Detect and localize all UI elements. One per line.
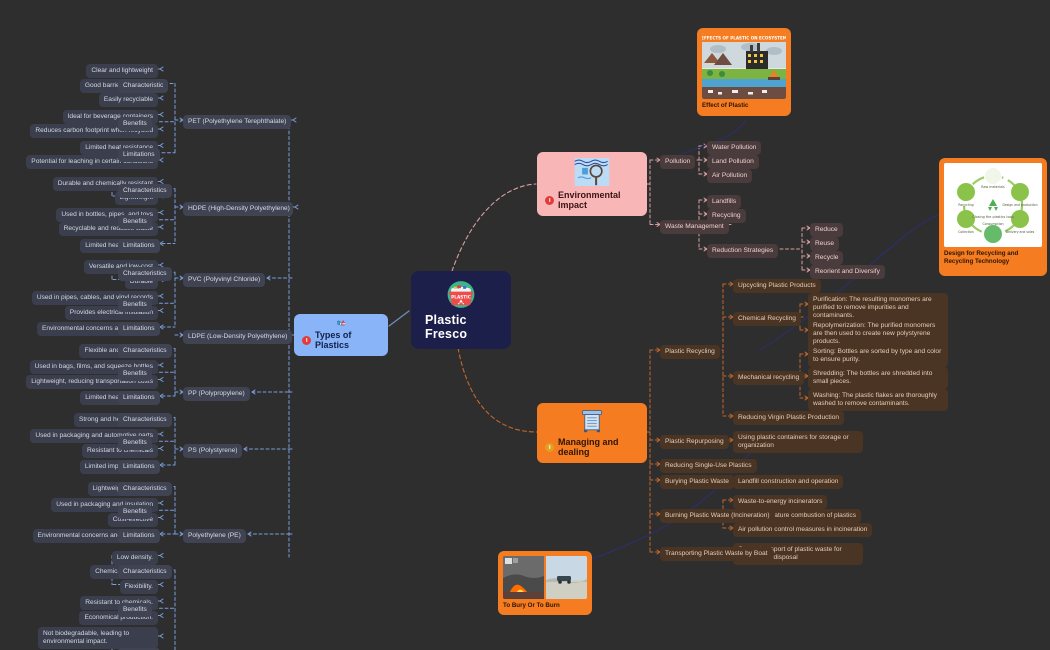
- managing-sub-node[interactable]: Using plastic containers for storage or …: [733, 431, 863, 453]
- env-sub-node[interactable]: Air Pollution: [707, 169, 752, 183]
- group-node[interactable]: Limitations: [118, 460, 160, 474]
- category-types-of-plastics[interactable]: Types of Plastics: [294, 314, 388, 356]
- managing-branch-node[interactable]: Burning Plastic Waste (Incineration): [660, 509, 775, 523]
- group-node[interactable]: Characteristics: [118, 565, 172, 579]
- managing-branch-node[interactable]: Burying Plastic Waste: [660, 475, 734, 489]
- group-node[interactable]: Benefits: [118, 367, 152, 381]
- image-card-design-for-recycling[interactable]: Raw materials Design and production Deli…: [939, 158, 1047, 276]
- image-card-bury-or-burn[interactable]: To Bury Or To Burn: [498, 551, 592, 615]
- leaf-node[interactable]: Flexibility.: [120, 580, 158, 594]
- recycling-loop-illustration: Raw materials Design and production Deli…: [944, 163, 1042, 247]
- svg-text:Recycling: Recycling: [958, 203, 973, 207]
- svg-text:Consumption: Consumption: [982, 222, 1003, 226]
- group-node[interactable]: Benefits: [118, 298, 152, 312]
- managing-leaf-node[interactable]: Shredding: The bottles are shredded into…: [808, 367, 948, 389]
- env-sub-node[interactable]: Water Pollution: [707, 141, 761, 155]
- red-badge: [302, 336, 311, 345]
- leaf-node[interactable]: Clear and lightweight: [86, 64, 158, 78]
- image-card-effect-of-plastic[interactable]: EFFECTS OF PLASTIC ON ECOSYSTEM: [697, 28, 791, 116]
- managing-sub-node[interactable]: Air pollution control measures in incine…: [733, 523, 872, 537]
- group-node[interactable]: Characteristics: [118, 344, 172, 358]
- water-pollution-icon: [571, 158, 613, 186]
- managing-leaf-node[interactable]: Washing: The plastic flakes are thorough…: [808, 389, 948, 411]
- plastic-bottles-icon: [324, 320, 358, 326]
- group-node[interactable]: Characteristics: [118, 413, 172, 427]
- bury-or-burn-photo: [503, 556, 587, 599]
- managing-sub-node[interactable]: Landfill construction and operation: [733, 475, 843, 489]
- plastic-type-node[interactable]: HDPE (High-Density Polyethylene): [183, 202, 293, 216]
- red-badge: [545, 196, 554, 205]
- group-node[interactable]: Benefits: [118, 215, 152, 229]
- managing-sub-node[interactable]: Chemical Recycling: [733, 312, 801, 326]
- leaf-node[interactable]: Low density.: [112, 551, 158, 565]
- design-for-recycling-caption: Design for Recycling and Recycling Techn…: [944, 250, 1042, 266]
- effect-of-plastic-illustration: EFFECTS OF PLASTIC ON ECOSYSTEM: [702, 33, 786, 99]
- leaf-node[interactable]: Easily recyclable: [99, 93, 158, 107]
- plastic-type-node[interactable]: PP (Polypropylene): [183, 387, 250, 401]
- svg-text:Raw materials: Raw materials: [981, 185, 1005, 189]
- effect-of-plastic-caption: Effect of Plastic: [702, 102, 786, 110]
- svg-text:Design and production: Design and production: [1002, 203, 1037, 207]
- group-node[interactable]: Benefits: [118, 117, 152, 131]
- group-node[interactable]: Limitations: [118, 529, 160, 543]
- trash-bin-icon: [578, 409, 606, 433]
- svg-text:Collection: Collection: [958, 230, 974, 234]
- env-branch-node[interactable]: Waste Management: [660, 220, 729, 234]
- bury-or-burn-caption: To Bury Or To Burn: [503, 602, 587, 610]
- group-node[interactable]: Limitations: [118, 239, 160, 253]
- leaf-node[interactable]: Not biodegradable, leading to environmen…: [38, 627, 158, 649]
- group-node[interactable]: Limitations: [118, 148, 160, 162]
- env-branch-node[interactable]: Pollution: [660, 155, 695, 169]
- managing-branch-node[interactable]: Plastic Repurposing: [660, 435, 729, 449]
- env-sub-node[interactable]: Landfills: [707, 195, 741, 209]
- central-node[interactable]: PLASTIC Plastic Fresco: [411, 271, 511, 349]
- central-title: Plastic Fresco: [425, 313, 497, 341]
- managing-sub-node[interactable]: Reducing Virgin Plastic Production: [733, 411, 844, 425]
- managing-branch-node[interactable]: Plastic Recycling: [660, 345, 720, 359]
- mindmap-canvas: PLASTIC Plastic Fresco Types of Plastics: [0, 0, 1050, 650]
- orange-badge: [545, 443, 554, 452]
- group-node[interactable]: Benefits: [118, 436, 152, 450]
- category-environment-label: Environmental Impact: [545, 190, 639, 210]
- group-node[interactable]: Benefits: [118, 505, 152, 519]
- env-leaf-node[interactable]: Reduce: [810, 223, 843, 237]
- managing-branch-node[interactable]: Reducing Single-Use Plastics: [660, 459, 757, 473]
- group-node[interactable]: Characteristic: [118, 79, 168, 93]
- group-node[interactable]: Limitations: [118, 391, 160, 405]
- group-node[interactable]: Limitations: [118, 322, 160, 336]
- env-leaf-node[interactable]: Reorient and Diversify: [810, 265, 885, 279]
- group-node[interactable]: Characteristics: [118, 267, 172, 281]
- plastic-type-node[interactable]: PVC (Polyvinyl Chloride): [183, 273, 265, 287]
- svg-text:Closing the plastics loop: Closing the plastics loop: [972, 215, 1013, 219]
- recycling-bin-icon: PLASTIC: [439, 279, 483, 310]
- plastic-type-node[interactable]: LDPE (Low-Density Polyethylene): [183, 330, 292, 344]
- group-node[interactable]: Characteristics: [118, 482, 172, 496]
- managing-leaf-node[interactable]: Sorting: Bottles are sorted by type and …: [808, 345, 948, 367]
- plastic-type-node[interactable]: Polyethylene (PE): [183, 529, 246, 543]
- group-node[interactable]: Characteristics: [118, 184, 172, 198]
- env-sub-node[interactable]: Land Pollution: [707, 155, 759, 169]
- managing-sub-node[interactable]: Waste-to-energy incinerators: [733, 495, 827, 509]
- managing-sub-node[interactable]: Upcycling Plastic Products: [733, 279, 821, 293]
- env-sub-node[interactable]: Reduction Strategies: [707, 244, 778, 258]
- category-types-label: Types of Plastics: [302, 330, 380, 350]
- category-environmental-impact[interactable]: Environmental Impact: [537, 152, 647, 216]
- effect-banner-text: EFFECTS OF PLASTIC ON ECOSYSTEM: [702, 36, 786, 41]
- group-node[interactable]: Benefits: [118, 603, 152, 617]
- plastic-type-node[interactable]: PET (Polyethylene Terephthalate): [183, 115, 291, 129]
- managing-branch-node[interactable]: Transporting Plastic Waste by Boat: [660, 547, 773, 561]
- env-leaf-node[interactable]: Recycle: [810, 251, 843, 265]
- plastic-type-node[interactable]: PS (Polystyrene): [183, 444, 242, 458]
- env-leaf-node[interactable]: Reuse: [810, 237, 839, 251]
- svg-text:Delivery and sales: Delivery and sales: [1006, 230, 1035, 234]
- category-managing-and-dealing[interactable]: Managing and dealing: [537, 403, 647, 463]
- svg-text:PLASTIC: PLASTIC: [451, 294, 471, 299]
- category-managing-label: Managing and dealing: [545, 437, 639, 457]
- managing-sub-node[interactable]: Mechanical recycling: [733, 371, 804, 385]
